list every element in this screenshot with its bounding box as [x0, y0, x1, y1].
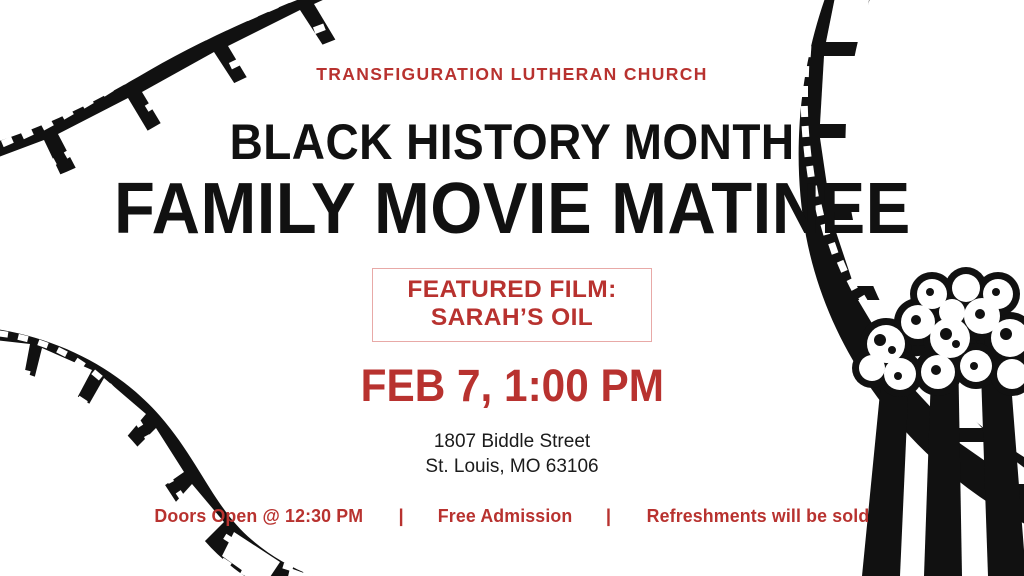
- flyer-content: TRANSFIGURATION LUTHERAN CHURCH BLACK HI…: [0, 0, 1024, 576]
- headline-primary: FAMILY MOVIE MATINEE: [114, 173, 911, 245]
- address-city-state-zip: St. Louis, MO 63106: [425, 455, 598, 479]
- featured-film-title: SARAH’S OIL: [407, 304, 616, 332]
- detail-separator-1: |: [367, 505, 434, 527]
- event-flyer: TRANSFIGURATION LUTHERAN CHURCH BLACK HI…: [0, 0, 1024, 576]
- featured-film-box: FEATURED FILM: SARAH’S OIL: [372, 268, 651, 343]
- event-datetime: FEB 7, 1:00 PM: [360, 363, 663, 408]
- detail-separator-2: |: [575, 505, 642, 527]
- organization-name: TRANSFIGURATION LUTHERAN CHURCH: [316, 66, 708, 84]
- headline-secondary: BLACK HISTORY MONTH: [229, 117, 794, 167]
- doors-open-detail: Doors Open @ 12:30 PM: [154, 505, 363, 527]
- refreshments-detail: Refreshments will be sold: [647, 505, 870, 527]
- admission-detail: Free Admission: [437, 505, 572, 527]
- event-details-bar: Doors Open @ 12:30 PM | Free Admission |…: [150, 505, 874, 527]
- address-street: 1807 Biddle Street: [425, 430, 598, 454]
- venue-address: 1807 Biddle Street St. Louis, MO 63106: [425, 430, 598, 479]
- featured-film-label: FEATURED FILM:: [407, 276, 616, 304]
